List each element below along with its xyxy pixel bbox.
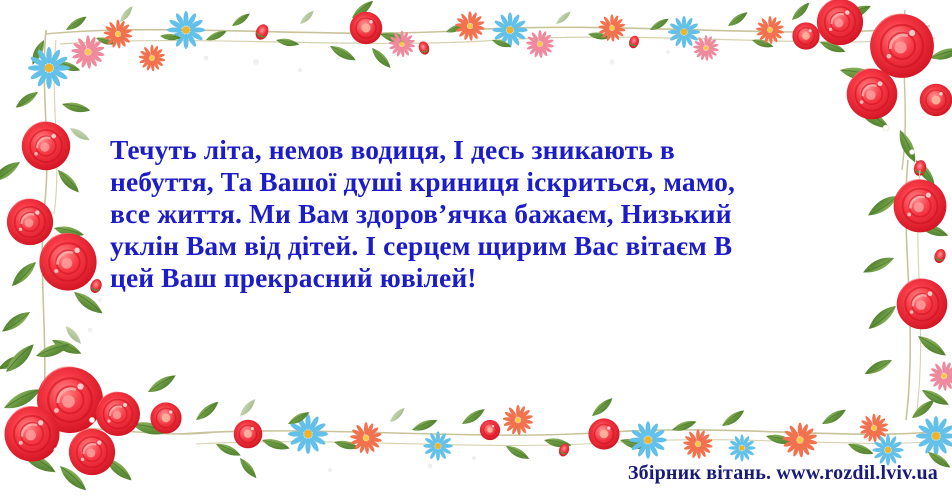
greeting-poem-text: Течуть літа, немов водиця, І десь зникаю… — [110, 134, 850, 294]
left-border-vine — [0, 198, 105, 430]
top-left-corner — [0, 30, 91, 214]
greeting-card: Течуть літа, немов водиця, І десь зникаю… — [0, 0, 952, 496]
right-border-vine — [861, 160, 952, 420]
top-border-vine — [45, 0, 935, 71]
credit-line: Збірник вітань. www.rozdil.lviv.ua — [0, 462, 952, 485]
